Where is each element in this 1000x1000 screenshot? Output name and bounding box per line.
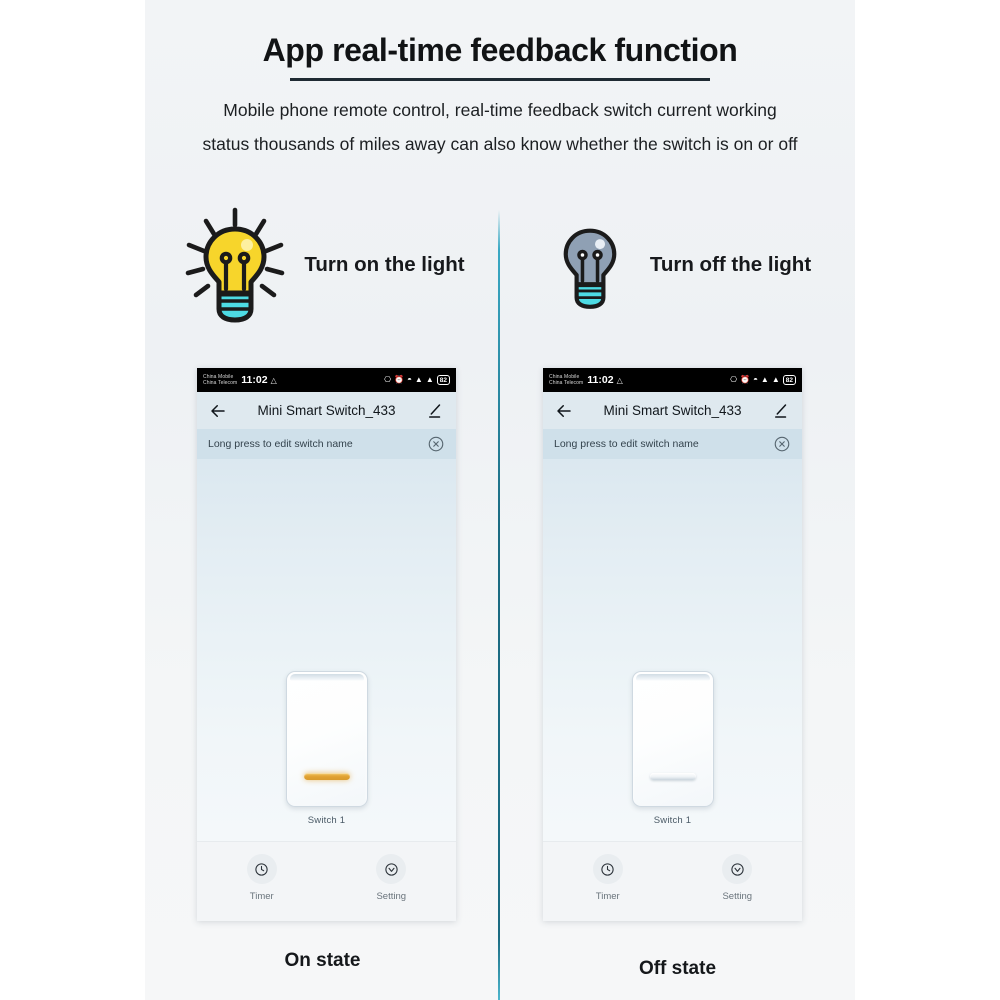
app-bar-title: Mini Smart Switch_433 [227, 403, 426, 418]
switch-name-label: Switch 1 [632, 815, 714, 826]
app-bar: Mini Smart Switch_433 [197, 392, 456, 429]
phone-mockup-off: China Mobile China Telecom 11:02 △ ⎔ ⏰ ◓… [543, 368, 802, 921]
toolbar-label-setting: Setting [722, 891, 752, 902]
bottom-toolbar: Timer Setting [197, 841, 456, 921]
panel-on-state: Turn on the light China Mobile China Tel… [145, 0, 500, 1000]
toolbar-item-timer[interactable]: Timer [197, 854, 327, 902]
toolbar-item-timer[interactable]: Timer [543, 854, 673, 902]
status-icon-group: ⎔ ⏰ ◓ ▲ ▲ 82 [384, 375, 450, 385]
back-arrow-icon[interactable] [555, 402, 573, 420]
pencil-edit-icon[interactable] [772, 402, 790, 420]
carrier-label: China Mobile China Telecom [549, 374, 583, 386]
nfc-icon: ⎔ [730, 376, 737, 384]
toolbar-item-setting[interactable]: Setting [673, 854, 803, 902]
status-icon-group: ⎔ ⏰ ◓ ▲ ▲ 82 [730, 375, 796, 385]
carrier-label: China Mobile China Telecom [203, 374, 237, 386]
pencil-edit-icon[interactable] [426, 402, 444, 420]
clock-icon [593, 854, 623, 884]
app-bar: Mini Smart Switch_433 [543, 392, 802, 429]
switch-indicator-off [650, 773, 696, 780]
clock-icon [247, 854, 277, 884]
switch-device-on[interactable]: Switch 1 [286, 671, 368, 826]
toolbar-item-setting[interactable]: Setting [327, 854, 457, 902]
switch-top-bevel [636, 674, 710, 681]
settings-icon [722, 854, 752, 884]
tip-text: Long press to edit switch name [554, 438, 773, 450]
edit-name-tip-banner: Long press to edit switch name [543, 429, 802, 459]
switch-indicator-on [304, 773, 350, 780]
toolbar-label-setting: Setting [376, 891, 406, 902]
switch-body[interactable] [286, 671, 368, 807]
bulb-label-off: Turn off the light [650, 253, 811, 277]
status-time: 11:02 [241, 374, 267, 386]
phone-status-bar: China Mobile China Telecom 11:02 △ ⎔ ⏰ ◓… [197, 368, 456, 392]
promo-page: App real-time feedback function Mobile p… [145, 0, 855, 1000]
switch-device-off[interactable]: Switch 1 [632, 671, 714, 826]
device-stage: Switch 1 [197, 459, 456, 841]
lightbulb-off-icon [544, 205, 636, 325]
switch-name-label: Switch 1 [286, 815, 368, 826]
phone-status-bar: China Mobile China Telecom 11:02 △ ⎔ ⏰ ◓… [543, 368, 802, 392]
location-icon: △ [617, 376, 623, 385]
alarm-icon: ⏰ [394, 376, 404, 384]
nfc-icon: ⎔ [384, 376, 391, 384]
signal-icon: ▲ [415, 376, 423, 384]
battery-indicator: 82 [783, 375, 796, 385]
battery-indicator: 82 [437, 375, 450, 385]
toolbar-label-timer: Timer [596, 891, 620, 902]
status-time: 11:02 [587, 374, 613, 386]
toolbar-label-timer: Timer [250, 891, 274, 902]
bulb-label-on: Turn on the light [304, 253, 464, 277]
device-stage: Switch 1 [543, 459, 802, 841]
signal-icon: ▲ [426, 376, 434, 384]
close-circle-icon[interactable] [773, 435, 791, 453]
back-arrow-icon[interactable] [209, 402, 227, 420]
edit-name-tip-banner: Long press to edit switch name [197, 429, 456, 459]
app-bar-title: Mini Smart Switch_433 [573, 403, 772, 418]
bulb-row-on: Turn on the light [145, 205, 500, 325]
location-icon: △ [271, 376, 277, 385]
bottom-toolbar: Timer Setting [543, 841, 802, 921]
signal-icon: ▲ [772, 376, 780, 384]
caption-off-state: Off state [500, 958, 855, 980]
wifi-icon: ◓ [407, 376, 412, 384]
panel-off-state: Turn off the light China Mobile China Te… [500, 0, 855, 1000]
alarm-icon: ⏰ [740, 376, 750, 384]
phone-mockup-on: China Mobile China Telecom 11:02 △ ⎔ ⏰ ◓… [197, 368, 456, 921]
close-circle-icon[interactable] [427, 435, 445, 453]
switch-body[interactable] [632, 671, 714, 807]
switch-top-bevel [290, 674, 364, 681]
bulb-row-off: Turn off the light [500, 205, 855, 325]
wifi-icon: ◓ [753, 376, 758, 384]
settings-icon [376, 854, 406, 884]
lightbulb-on-icon [180, 205, 290, 325]
signal-icon: ▲ [761, 376, 769, 384]
tip-text: Long press to edit switch name [208, 438, 427, 450]
caption-on-state: On state [145, 950, 500, 972]
